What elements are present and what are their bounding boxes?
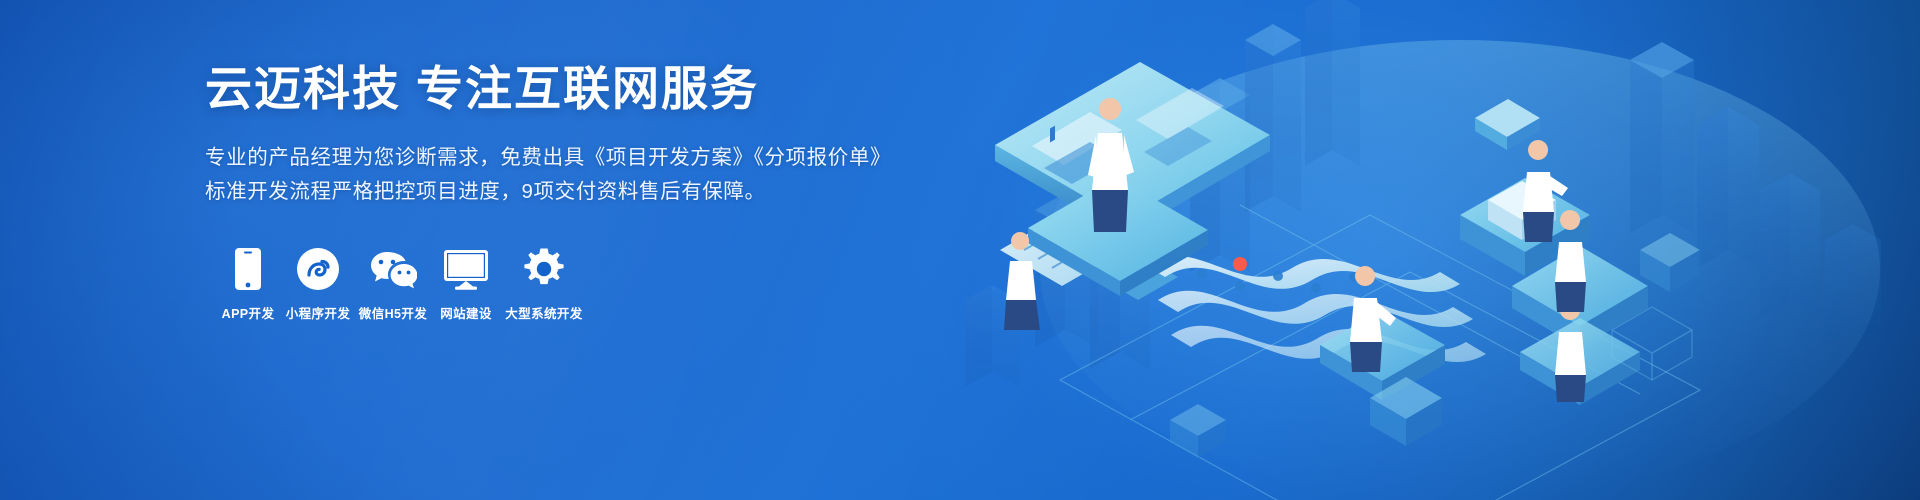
service-item-miniprogram[interactable]: 小程序开发 (281, 244, 355, 322)
hero-content: 云迈科技 专注互联网服务 专业的产品经理为您诊断需求，免费出具《项目开发方案》《… (205, 60, 925, 322)
mini-program-icon (281, 244, 355, 290)
service-item-wechat[interactable]: 微信H5开发 (355, 244, 431, 322)
service-item-website[interactable]: 网站建设 (431, 244, 501, 322)
wechat-icon (355, 244, 431, 290)
service-label-app: APP开发 (215, 303, 281, 322)
service-label-website: 网站建设 (431, 303, 501, 322)
monitor-icon (431, 244, 501, 290)
subtitle-line-1: 专业的产品经理为您诊断需求，免费出具《项目开发方案》《分项报价单》 (205, 141, 925, 174)
service-label-system: 大型系统开发 (501, 303, 587, 322)
mobile-phone-icon (215, 244, 281, 290)
isometric-data-team-illustration (940, 0, 1920, 500)
service-label-miniprogram: 小程序开发 (281, 303, 355, 322)
service-item-system[interactable]: 大型系统开发 (501, 244, 587, 322)
service-item-app[interactable]: APP开发 (215, 244, 281, 322)
service-list: APP开发 小程序开发 (215, 244, 925, 322)
hero-subtitle: 专业的产品经理为您诊断需求，免费出具《项目开发方案》《分项报价单》 标准开发流程… (205, 141, 925, 207)
hero-banner: 云迈科技 专注互联网服务 专业的产品经理为您诊断需求，免费出具《项目开发方案》《… (0, 0, 1920, 500)
page-title: 云迈科技 专注互联网服务 (205, 60, 925, 117)
gear-icon (501, 244, 587, 290)
service-label-wechat: 微信H5开发 (355, 303, 431, 322)
subtitle-line-2: 标准开发流程严格把控项目进度，9项交付资料售后有保障。 (205, 175, 925, 208)
